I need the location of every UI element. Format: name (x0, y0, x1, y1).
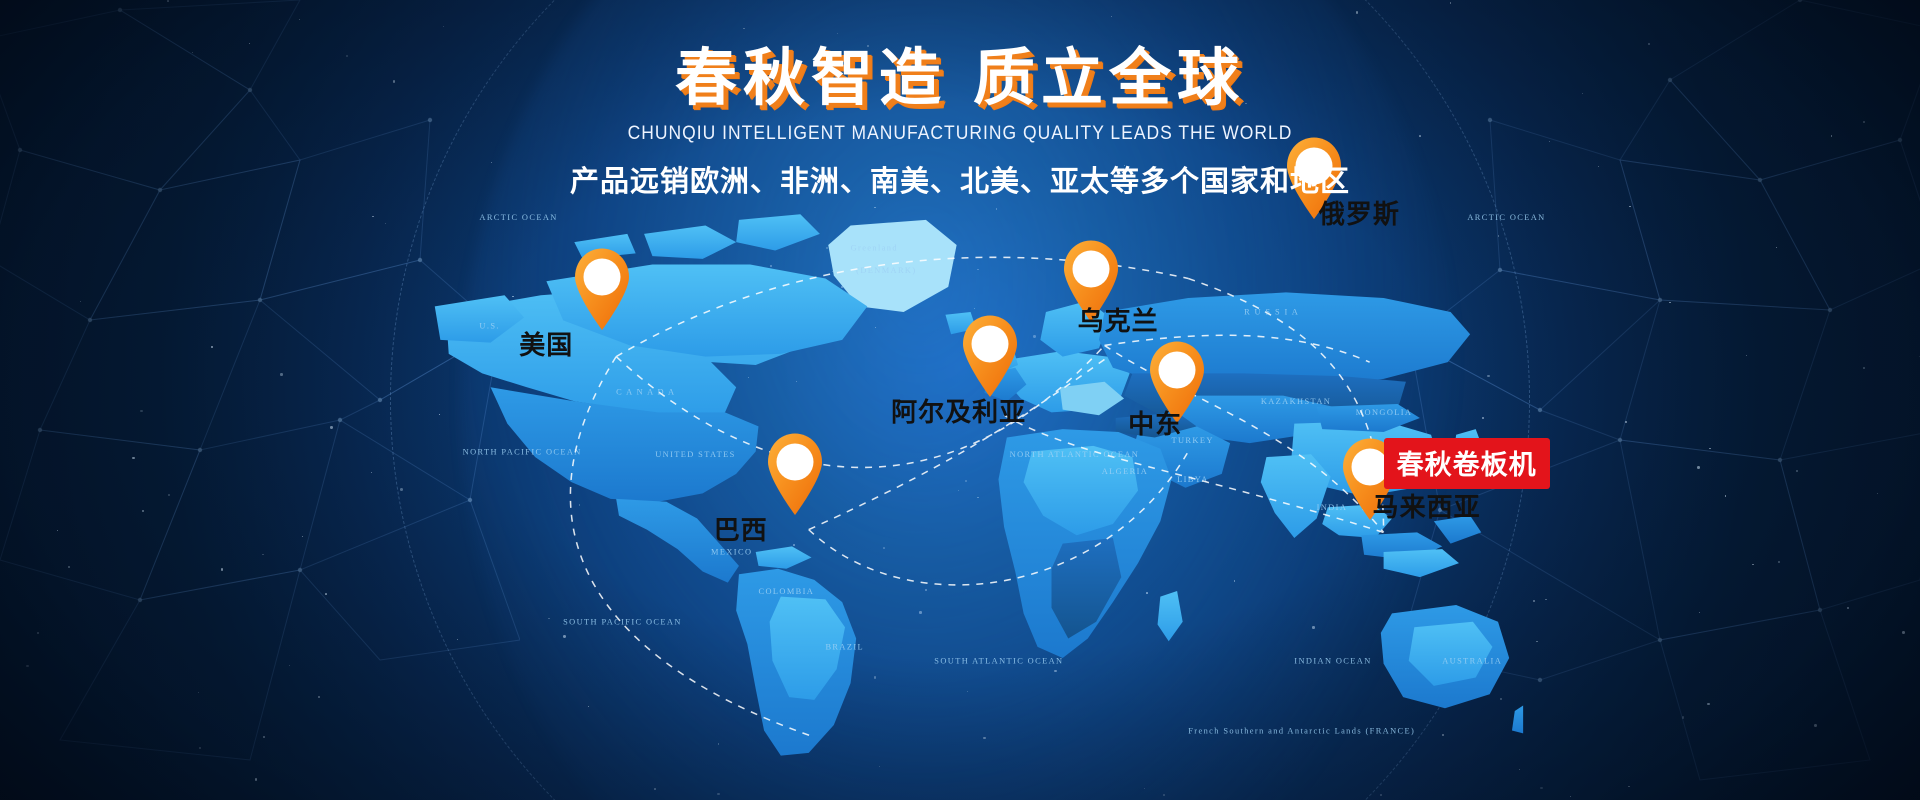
title-part-2: 质立全球 (973, 44, 1245, 113)
map-region-label: UNITED STATES (655, 450, 735, 459)
world-map: ARCTIC OCEANARCTIC OCEANGreenland(DENMAR… (330, 178, 1600, 778)
title-part-1: 春秋智造 (675, 44, 947, 113)
map-region-label: MONGOLIA (1356, 408, 1413, 417)
map-region-label: INDIAN OCEAN (1294, 657, 1371, 666)
map-marker-label-middle-east: 中东 (1128, 404, 1182, 441)
map-region-label: Greenland (851, 244, 898, 253)
headline-block: 春秋智造质立全球 CHUNQIU INTELLIGENT MANUFACTURI… (0, 46, 1920, 200)
map-region-label: KAZAKHSTAN (1261, 397, 1331, 406)
map-region-label: C A N A D A (616, 387, 675, 396)
map-region-label: COLOMBIA (758, 587, 814, 596)
banner-stage: 春秋智造质立全球 CHUNQIU INTELLIGENT MANUFACTURI… (0, 0, 1920, 800)
map-marker-label-brazil: 巴西 (714, 510, 768, 547)
map-marker-label-malaysia: 马来西亚 (1373, 487, 1481, 524)
map-marker-label-algeria: 阿尔及利亚 (891, 392, 1026, 429)
map-region-label: R U S S I A (1244, 308, 1299, 317)
map-region-label: BRAZIL (825, 643, 864, 652)
map-region-label: ARCTIC OCEAN (1467, 213, 1545, 222)
map-marker-label-ukraine: 乌克兰 (1078, 301, 1159, 338)
map-marker-brazil[interactable] (764, 432, 826, 516)
brand-badge[interactable]: 春秋卷板机 (1384, 438, 1550, 489)
map-region-label: ARCTIC OCEAN (479, 213, 557, 222)
page-title: 春秋智造质立全球 (0, 46, 1920, 111)
location-pin-icon (764, 432, 826, 516)
map-region-label: AUSTRALIA (1442, 657, 1502, 666)
map-region-label: French Southern and Antarctic Lands (FRA… (1188, 726, 1415, 735)
map-region-label: LIBYA (1177, 475, 1209, 484)
map-marker-label-united-states: 美国 (519, 325, 573, 362)
title-chinese-subtitle: 产品远销欧洲、非洲、南美、北美、亚太等多个国家和地区 (0, 158, 1920, 200)
map-marker-united-states[interactable] (571, 247, 633, 331)
map-region-label: SOUTH PACIFIC OCEAN (563, 618, 682, 627)
map-region-label: U.S. (479, 322, 499, 331)
map-region-label: (DENMARK) (856, 266, 916, 275)
map-marker-algeria[interactable] (959, 314, 1021, 398)
title-english-subtitle: CHUNQIU INTELLIGENT MANUFACTURING QUALIT… (77, 123, 1843, 145)
map-region-label: MEXICO (711, 548, 752, 557)
location-pin-icon (571, 247, 633, 331)
map-region-label: NORTH ATLANTIC OCEAN (1010, 450, 1140, 459)
map-region-label: NORTH PACIFIC OCEAN (463, 447, 582, 456)
map-region-label: ALGERIA (1102, 467, 1148, 476)
map-region-label: SOUTH ATLANTIC OCEAN (934, 657, 1063, 666)
location-pin-icon (959, 314, 1021, 398)
